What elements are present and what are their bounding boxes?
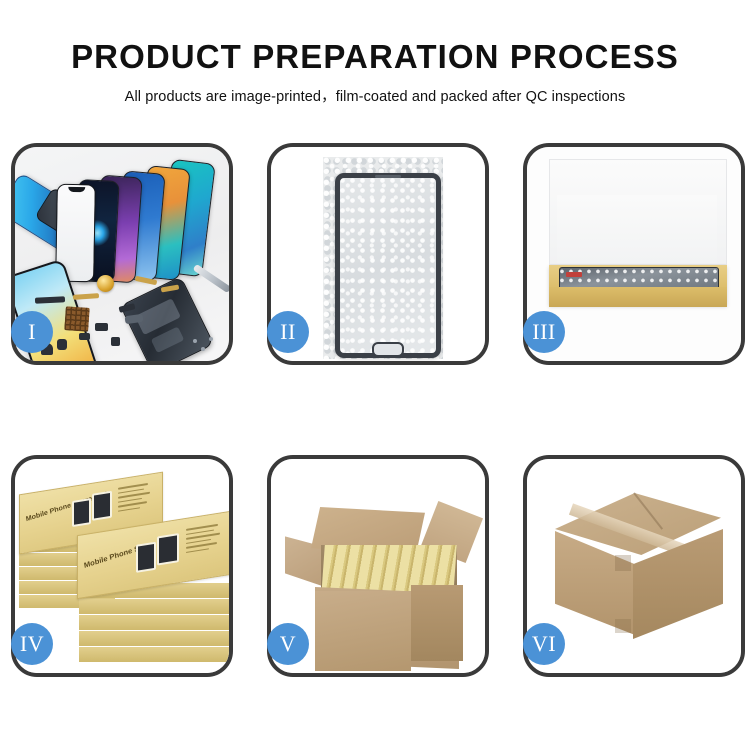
step-badge-1: I	[11, 311, 53, 353]
page-title: PRODUCT PREPARATION PROCESS	[0, 0, 750, 76]
page-subtitle: All products are image-printed，film-coat…	[0, 76, 750, 106]
page-header: PRODUCT PREPARATION PROCESS All products…	[0, 0, 750, 106]
process-step-panel-6: VI	[523, 455, 745, 677]
box-thumbnail-icon	[157, 533, 179, 565]
camera-lens-icon	[97, 275, 114, 292]
box-edge	[79, 647, 229, 662]
process-step-panel-2: II	[267, 143, 489, 365]
process-step-panel-3: III	[523, 143, 745, 365]
kraft-box-front-face	[549, 287, 727, 307]
process-step-panel-1: I	[11, 143, 233, 365]
carton-corner-notch	[615, 619, 631, 633]
home-button-icon	[372, 342, 404, 357]
box-edge	[79, 599, 229, 614]
small-part-icon	[57, 339, 67, 350]
process-step-grid: I II	[11, 143, 745, 683]
box-thumbnail-icon	[72, 498, 91, 527]
process-step-panel-4: Mobile Phone Spare Parts	[11, 455, 233, 677]
carton-corner-notch	[615, 555, 631, 571]
box-spec-lines	[186, 523, 226, 556]
box-edge	[79, 631, 229, 646]
box-thumbnail-icon	[92, 491, 112, 521]
box-spec-lines	[118, 482, 154, 515]
carton-right-face	[411, 585, 463, 661]
small-part-icon	[111, 337, 120, 346]
box-edge	[79, 615, 229, 630]
product-preparation-process-page: PRODUCT PREPARATION PROCESS All products…	[0, 0, 750, 750]
earpiece-icon	[375, 175, 401, 178]
foam-liner	[557, 195, 717, 263]
screw-icon	[193, 339, 197, 343]
carton-front-face	[315, 591, 411, 671]
screw-icon	[201, 347, 205, 351]
bubble-wrap-sheet	[323, 157, 443, 359]
step-badge-4: IV	[11, 623, 53, 665]
small-part-icon	[79, 333, 90, 340]
red-sticker-icon	[566, 272, 582, 277]
step-badge-6: VI	[523, 623, 565, 665]
screw-icon	[209, 337, 213, 341]
notch-icon	[68, 186, 85, 191]
step-badge-3: III	[523, 311, 565, 353]
box-thumbnail-icon	[136, 542, 156, 573]
process-step-panel-5: V	[267, 455, 489, 677]
wrapped-phone-screen	[335, 173, 441, 358]
step-badge-5: V	[267, 623, 309, 665]
small-part-icon	[95, 323, 108, 331]
chip-grid-icon	[64, 306, 90, 332]
step-badge-2: II	[267, 311, 309, 353]
